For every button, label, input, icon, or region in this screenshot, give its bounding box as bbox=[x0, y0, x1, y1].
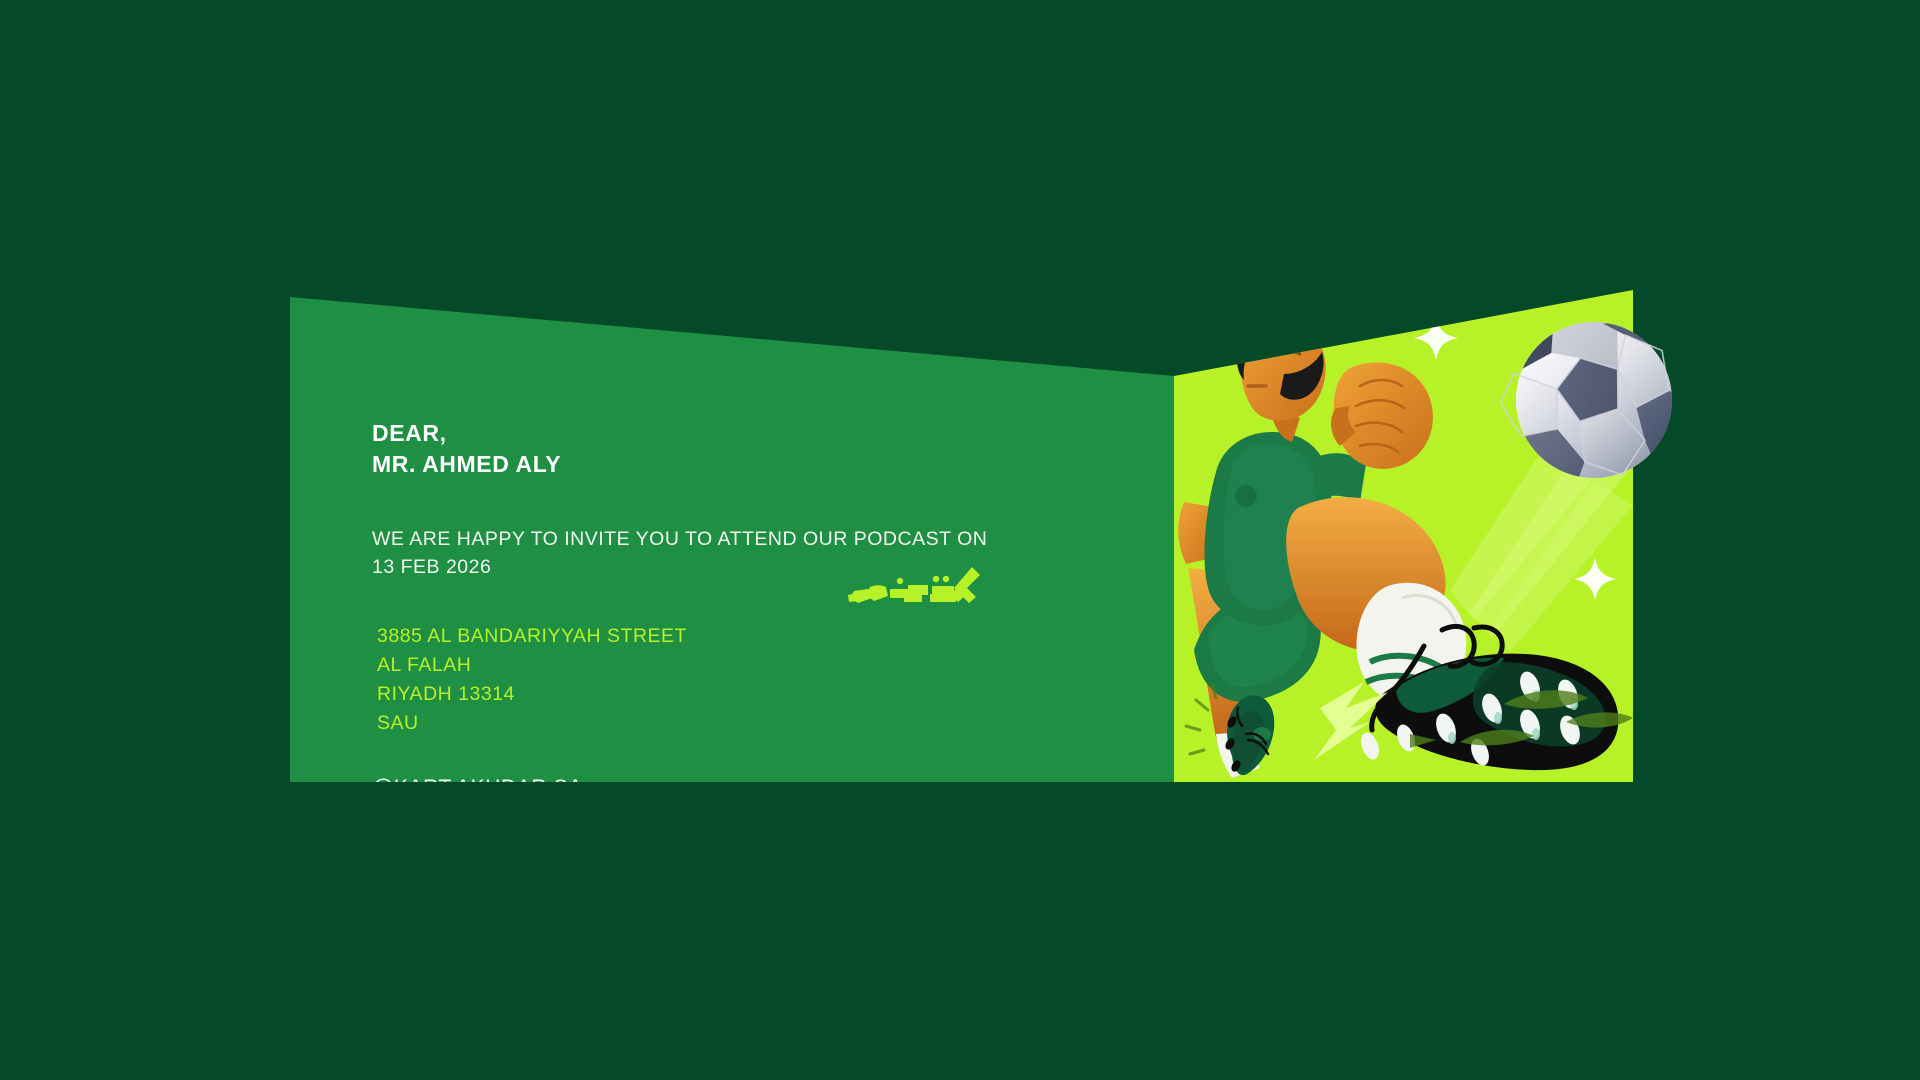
brand-logo-icon bbox=[846, 565, 982, 605]
player-raised-fist bbox=[1314, 363, 1433, 502]
address-street: 3885 AL BANDARIYYAH STREET bbox=[377, 622, 1132, 651]
kart-akhdar-logo bbox=[846, 565, 982, 605]
screenshot-canvas: DEAR, MR. AHMED ALY WE ARE HAPPY TO INVI… bbox=[0, 0, 1920, 1080]
salutation: DEAR, MR. AHMED ALY bbox=[372, 418, 1132, 480]
address-country: SAU bbox=[377, 709, 1132, 738]
player-kicking-leg bbox=[1286, 497, 1466, 704]
football-player-illustration bbox=[1174, 290, 1633, 782]
invitation-text-block: DEAR, MR. AHMED ALY WE ARE HAPPY TO INVI… bbox=[372, 418, 1132, 800]
large-soccer-cleat bbox=[1358, 626, 1619, 770]
address-block: 3885 AL BANDARIYYAH STREET AL FALAH RIYA… bbox=[372, 622, 1132, 737]
sparkle-star bbox=[1237, 316, 1616, 600]
salutation-line-1: DEAR, bbox=[372, 418, 1132, 449]
player-body bbox=[1178, 304, 1332, 778]
invitation-card: DEAR, MR. AHMED ALY WE ARE HAPPY TO INVI… bbox=[290, 290, 1633, 782]
card-right-panel bbox=[1174, 290, 1633, 782]
address-city-postcode: RIYADH 13314 bbox=[377, 680, 1132, 709]
speed-rays bbox=[1450, 410, 1633, 652]
social-handle[interactable]: @KART.AKHDAR.SA bbox=[372, 776, 1132, 800]
invite-message-date: 13 FEB 2026 bbox=[372, 554, 1132, 582]
address-district: AL FALAH bbox=[377, 651, 1132, 680]
invite-message-line-1: WE ARE HAPPY TO INVITE YOU TO ATTEND OUR… bbox=[372, 526, 1132, 554]
card-left-panel: DEAR, MR. AHMED ALY WE ARE HAPPY TO INVI… bbox=[290, 290, 1174, 782]
salutation-line-2: MR. AHMED ALY bbox=[372, 449, 1132, 480]
small-soccer-cleat bbox=[1186, 684, 1274, 775]
invite-message: WE ARE HAPPY TO INVITE YOU TO ATTEND OUR… bbox=[372, 526, 1132, 581]
grass-blades bbox=[1410, 690, 1633, 748]
lightning-bolt bbox=[1314, 682, 1388, 760]
